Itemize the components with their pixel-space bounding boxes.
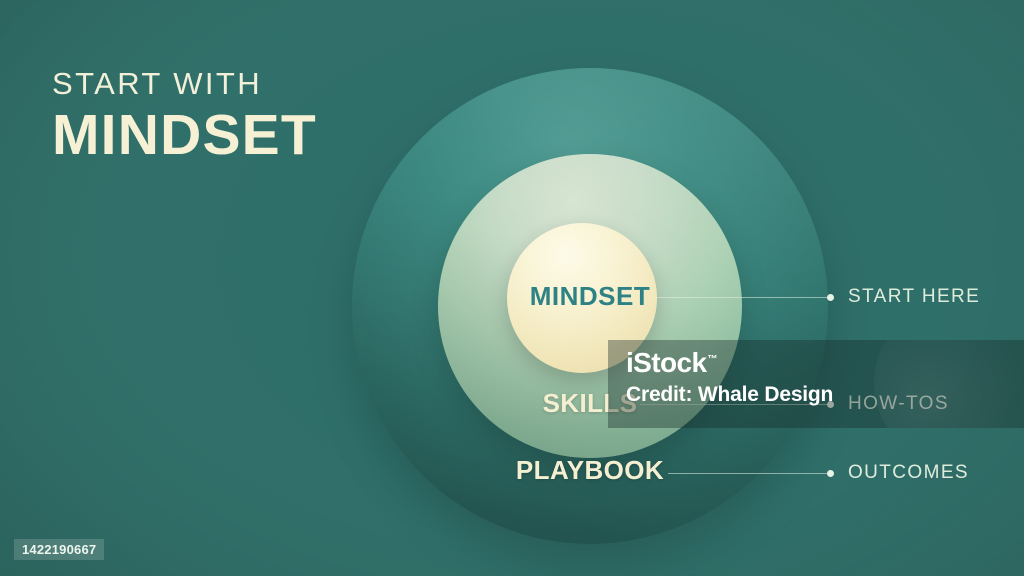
istock-watermark: iStock™ Credit: Whale Design — [608, 340, 1024, 428]
annotation-outcomes: OUTCOMES — [668, 460, 969, 486]
leader-line-icon — [668, 473, 828, 474]
annotation-start-here: START HERE — [656, 284, 980, 310]
watermark-credit: Credit: Whale Design — [626, 383, 833, 407]
image-id-chip: 1422190667 — [14, 539, 104, 560]
headline-block: START WITH MINDSET — [52, 68, 317, 166]
leader-dot-icon — [827, 470, 834, 477]
watermark-content: iStock™ Credit: Whale Design — [626, 348, 833, 407]
istock-logo: iStock™ — [626, 348, 717, 379]
leader-line-icon — [656, 297, 828, 298]
istock-logo-text: iStock — [626, 347, 706, 378]
trademark-icon: ™ — [707, 354, 716, 365]
infographic-canvas: START WITH MINDSET MINDSET SKILLS PLAYBO… — [0, 0, 1024, 576]
headline-title: MINDSET — [52, 106, 317, 166]
leader-dot-icon — [827, 294, 834, 301]
annotation-label-start-here: START HERE — [848, 286, 980, 308]
annotation-label-outcomes: OUTCOMES — [848, 462, 969, 484]
watermark-swoosh-icon — [874, 340, 1024, 428]
headline-eyebrow: START WITH — [52, 68, 317, 99]
